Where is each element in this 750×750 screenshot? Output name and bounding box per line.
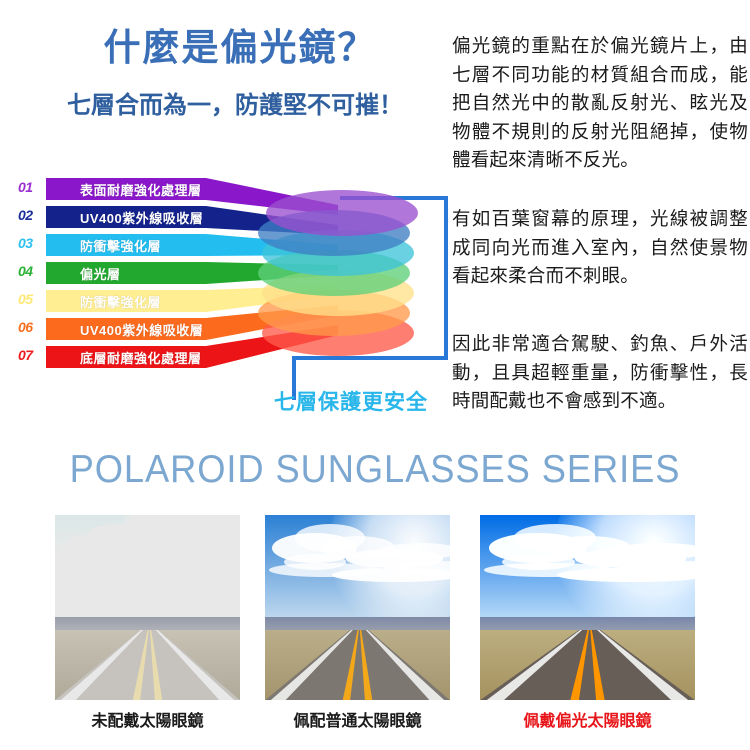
layer-number-05: 05	[18, 291, 44, 307]
comparison-card-2: 佩配普通太陽眼鏡	[265, 515, 450, 731]
layer-number-01: 01	[18, 179, 44, 195]
layer-label-06: UV400紫外線吸收層	[80, 320, 203, 339]
comparison-caption-2: 佩配普通太陽眼鏡	[265, 707, 450, 731]
lens-layer-ellipse-1	[266, 190, 418, 236]
series-banner-title: POLAROID SUNGLASSES SERIES	[26, 448, 724, 492]
photo-road	[480, 630, 695, 700]
layer-label-07: 底層耐磨強化處理層	[80, 348, 202, 367]
photo-road	[265, 630, 450, 700]
layer-number-04: 04	[18, 263, 44, 279]
page-subtitle: 七層合而為一，防護堅不可摧！	[20, 93, 450, 119]
layer-label-04: 偏光層	[80, 264, 121, 283]
bracket-right-segment	[444, 196, 448, 360]
comparison-caption-1: 未配戴太陽眼鏡	[55, 707, 240, 731]
layer-bar	[46, 262, 206, 284]
comparison-caption-3: 佩戴偏光太陽眼鏡	[480, 707, 695, 731]
photo-road	[55, 630, 240, 700]
layer-number-06: 06	[18, 319, 44, 335]
comparison-photo-2	[265, 515, 450, 700]
description-paragraph-1: 偏光鏡的重點在於偏光鏡片上，由七層不同功能的材質組合而成，能把自然光中的散亂反射…	[452, 32, 748, 175]
comparison-card-3: 佩戴偏光太陽眼鏡	[480, 515, 695, 731]
layer-label-05: 防衝擊強化層	[80, 292, 161, 311]
layer-number-07: 07	[18, 347, 44, 363]
description-paragraph-2: 有如百葉窗幕的原理，光線被調整成同向光而進入室內，自然使景物看起來柔合而不刺眼。	[452, 205, 748, 291]
comparison-photo-3	[480, 515, 695, 700]
layer-label-03: 防衝擊強化層	[80, 236, 161, 255]
page-title: 什麼是偏光鏡？	[30, 28, 450, 69]
bracket-bottom-segment	[292, 356, 448, 360]
comparison-photo-1	[55, 515, 240, 700]
layer-label-01: 表面耐磨強化處理層	[80, 180, 202, 199]
layer-label-02: UV400紫外線吸收層	[80, 208, 203, 227]
stack-caption: 七層保護更安全	[240, 386, 462, 416]
description-paragraph-3: 因此非常適合駕駛、釣魚、戶外活動，且具超輕重量，防衝擊性，長時間配戴也不會感到不…	[452, 330, 748, 416]
comparison-card-1: 未配戴太陽眼鏡	[55, 515, 240, 731]
layer-number-02: 02	[18, 207, 44, 223]
layer-number-03: 03	[18, 235, 44, 251]
